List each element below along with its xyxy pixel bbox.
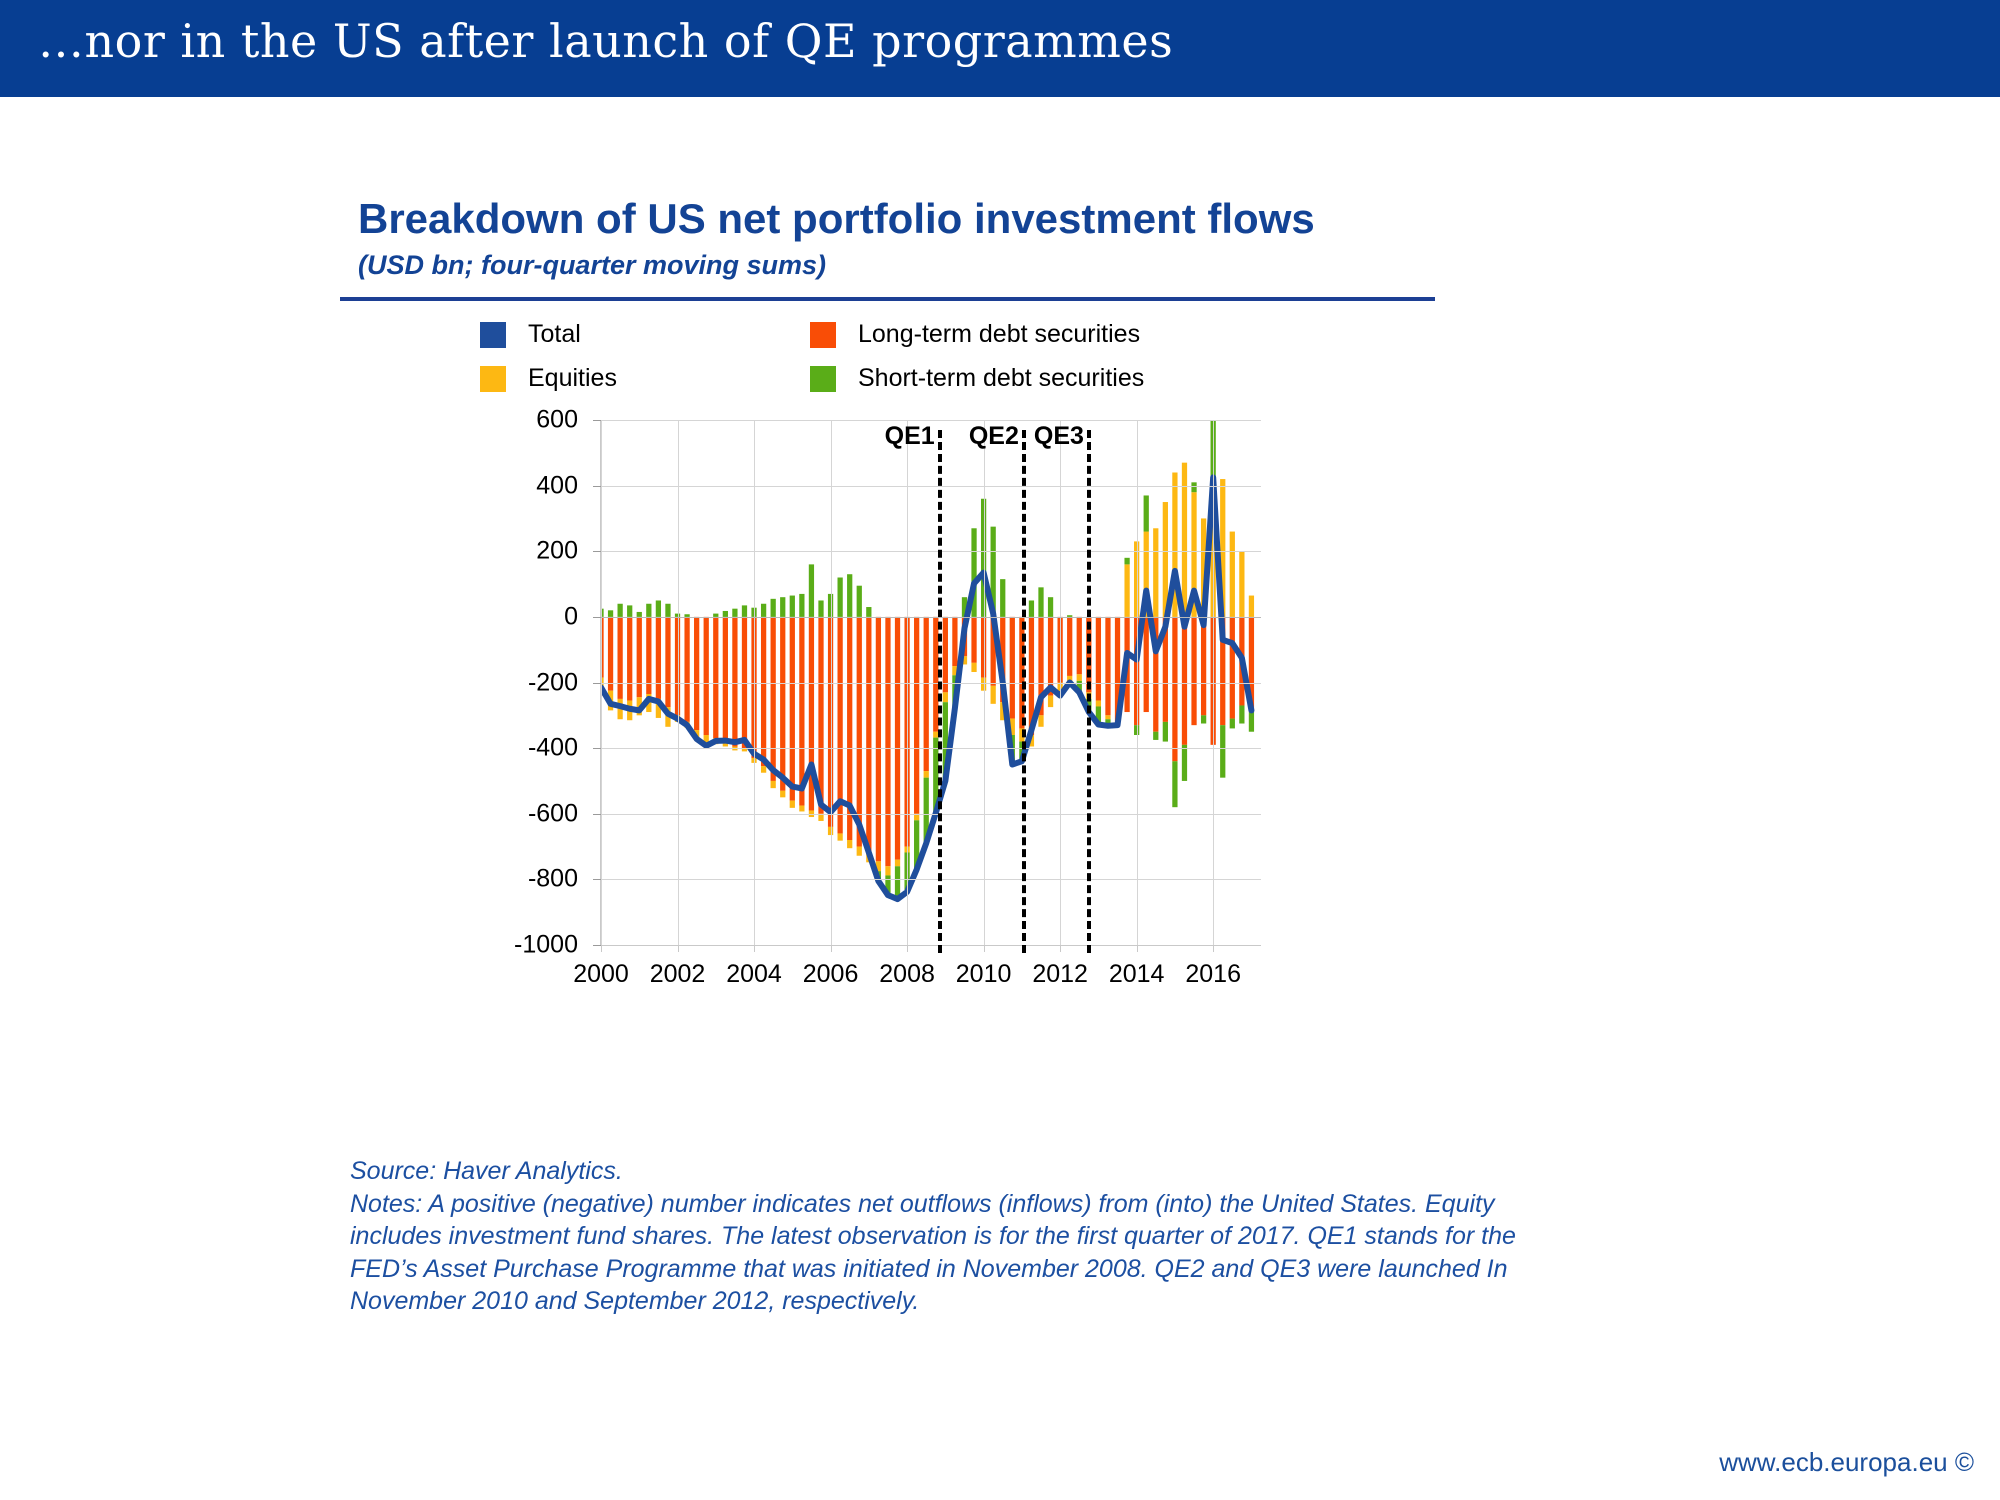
slide-title: …nor in the US after launch of QE progra…	[38, 14, 1173, 68]
x-tick-mark	[1137, 945, 1138, 952]
qe-marker-line	[938, 430, 942, 953]
footer-url: www.ecb.europa.eu ©	[1719, 1447, 1974, 1478]
x-tick-mark	[1060, 945, 1061, 952]
gridline	[601, 420, 1261, 421]
x-axis-tick-label: 2010	[956, 960, 1012, 989]
y-tick-mark	[593, 551, 601, 552]
gridline	[601, 814, 1261, 815]
x-axis-tick-label: 2000	[573, 960, 629, 989]
x-tick-mark	[678, 945, 679, 952]
gridline	[601, 748, 1261, 749]
y-axis-tick-label: -800	[378, 865, 578, 894]
chart-subtitle: (USD bn; four-quarter moving sums)	[358, 250, 826, 281]
title-divider	[340, 297, 1435, 301]
legend-item-equities: Equities	[480, 364, 617, 393]
y-axis-tick-label: -200	[378, 668, 578, 697]
gridline-vertical	[1213, 420, 1214, 945]
legend-label: Equities	[528, 364, 617, 393]
gridline	[601, 486, 1261, 487]
legend-label: Long-term debt securities	[858, 320, 1140, 349]
x-axis-tick-label: 2002	[650, 960, 706, 989]
y-tick-mark	[593, 683, 601, 684]
qe-annotation-qe2: QE2	[969, 422, 1019, 451]
legend-swatch-icon	[480, 322, 506, 348]
notes-line-2: includes investment fund shares. The lat…	[350, 1220, 1680, 1253]
x-axis-tick-label: 2006	[803, 960, 859, 989]
x-tick-mark	[907, 945, 908, 952]
y-tick-mark	[593, 814, 601, 815]
y-axis-tick-label: 400	[378, 471, 578, 500]
total-line-path	[601, 477, 1251, 899]
y-axis-tick-label: -400	[378, 734, 578, 763]
x-axis-tick-label: 2016	[1185, 960, 1241, 989]
y-axis-tick-label: 0	[378, 602, 578, 631]
x-tick-mark	[831, 945, 832, 952]
x-tick-mark	[984, 945, 985, 952]
chart-panel: Breakdown of US net portfolio investment…	[340, 180, 1760, 1140]
legend-item-long-term-debt-securities: Long-term debt securities	[810, 320, 1140, 349]
y-tick-mark	[593, 945, 601, 946]
legend-swatch-icon	[480, 366, 506, 392]
x-axis-tick-label: 2004	[726, 960, 782, 989]
y-axis-tick-label: -600	[378, 799, 578, 828]
x-axis-tick-label: 2012	[1032, 960, 1088, 989]
legend-item-total: Total	[480, 320, 581, 349]
qe-annotation-qe3: QE3	[1034, 422, 1084, 451]
chart-title: Breakdown of US net portfolio investment…	[358, 195, 1315, 243]
notes-line-1: Notes: A positive (negative) number indi…	[350, 1188, 1680, 1221]
y-tick-mark	[593, 879, 601, 880]
gridline-vertical	[984, 420, 985, 945]
y-axis-tick-label: 600	[378, 406, 578, 435]
x-axis-tick-label: 2008	[879, 960, 935, 989]
zero-line	[601, 617, 1261, 618]
qe-annotation-qe1: QE1	[885, 422, 935, 451]
header-banner: …nor in the US after launch of QE progra…	[0, 0, 2000, 97]
notes-line-3: FED’s Asset Purchase Programme that was …	[350, 1253, 1680, 1286]
source-line: Source: Haver Analytics.	[350, 1155, 1680, 1188]
gridline-vertical	[754, 420, 755, 945]
gridline	[601, 683, 1261, 684]
gridline-vertical	[678, 420, 679, 945]
y-tick-mark	[593, 748, 601, 749]
gridline	[601, 551, 1261, 552]
plot-wrapper: 200020022004200620082010201220142016QE1Q…	[340, 410, 1760, 1140]
legend-swatch-icon	[810, 322, 836, 348]
gridline-vertical	[831, 420, 832, 945]
notes-block: Source: Haver Analytics. Notes: A positi…	[350, 1155, 1680, 1318]
gridline-vertical	[907, 420, 908, 945]
y-axis-tick-label: -1000	[378, 931, 578, 960]
qe-marker-line	[1022, 430, 1026, 953]
legend-label: Total	[528, 320, 581, 349]
x-tick-mark	[754, 945, 755, 952]
legend-swatch-icon	[810, 366, 836, 392]
legend-label: Short-term debt securities	[858, 364, 1144, 393]
gridline-vertical	[1137, 420, 1138, 945]
y-tick-mark	[593, 420, 601, 421]
notes-line-4: November 2010 and September 2012, respec…	[350, 1285, 1680, 1318]
y-axis-tick-label: 200	[378, 537, 578, 566]
gridline-vertical	[601, 420, 602, 945]
gridline-vertical	[1060, 420, 1061, 945]
legend-item-short-term-debt-securities: Short-term debt securities	[810, 364, 1144, 393]
y-tick-mark	[593, 486, 601, 487]
qe-marker-line	[1087, 430, 1091, 953]
gridline	[601, 879, 1261, 880]
x-axis-tick-label: 2014	[1109, 960, 1165, 989]
y-tick-mark	[593, 617, 601, 618]
x-tick-mark	[601, 945, 602, 952]
plot-area: 200020022004200620082010201220142016QE1Q…	[600, 420, 1261, 946]
x-tick-mark	[1213, 945, 1214, 952]
chart-legend: TotalLong-term debt securitiesEquitiesSh…	[480, 320, 1380, 410]
